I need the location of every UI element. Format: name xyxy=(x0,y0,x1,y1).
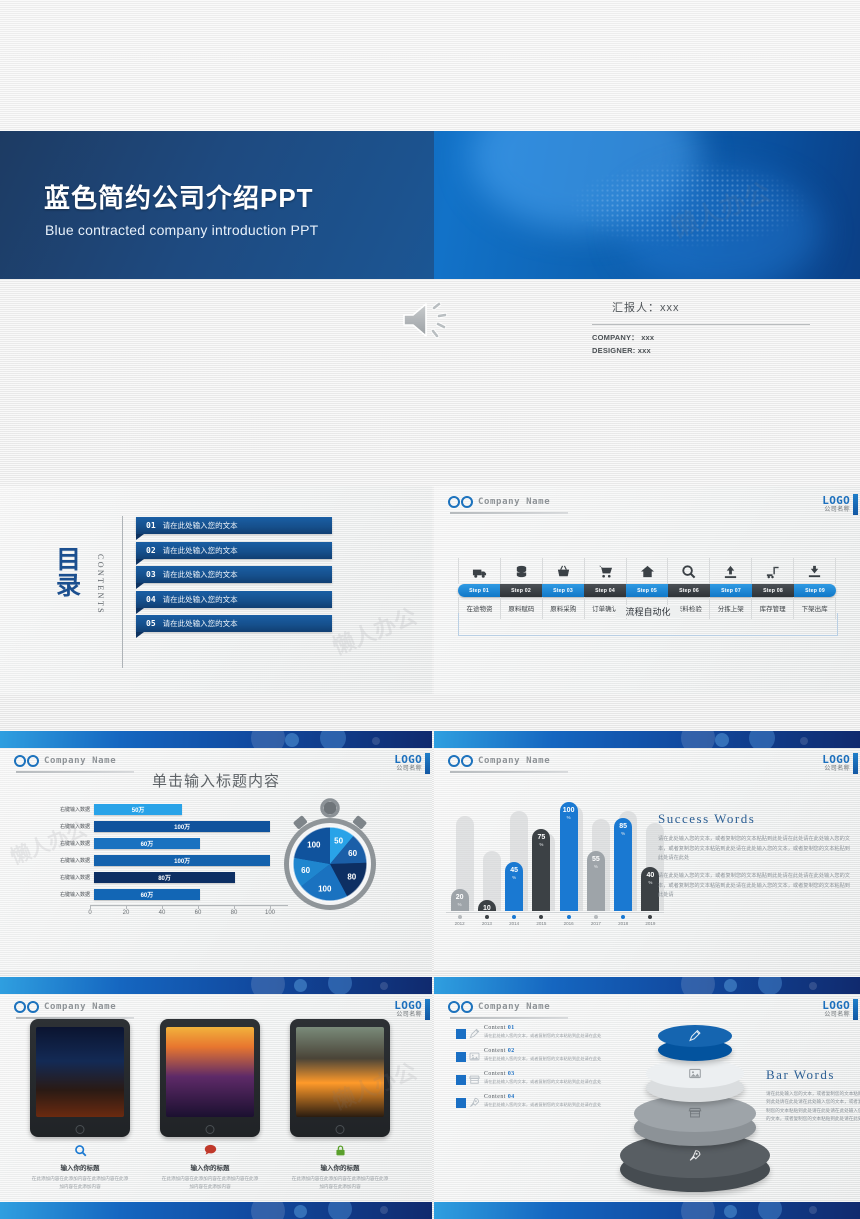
bar-words-text: 请在此处输入您的文本，或者复制您的文本粘贴到此处请在此处请在此处输入您的文本，或… xyxy=(766,1090,860,1124)
logo-badge: LOGO 公司名称 xyxy=(822,1000,850,1018)
bar-row-label: 右键输入数据 xyxy=(38,874,94,881)
bar-track: 60万 xyxy=(94,889,288,900)
toc-item-text: 请在此处输入您的文本 xyxy=(163,618,238,629)
meta-company-value: xxx xyxy=(641,333,654,342)
column-unit: % xyxy=(567,815,571,820)
slide-cover[interactable]: 蓝色简约公司介绍PPT Blue contracted company intr… xyxy=(0,0,860,355)
image-icon xyxy=(689,1067,702,1085)
truck-icon xyxy=(458,558,501,584)
toc-item-text: 请在此处输入您的文本 xyxy=(163,594,238,605)
image-icon xyxy=(466,1048,482,1062)
bar-value: 100万 xyxy=(94,855,270,866)
bar-row-label: 右键输入数据 xyxy=(38,857,94,864)
pie-slice-label: 100 xyxy=(318,885,332,894)
world-map-dots xyxy=(560,153,840,257)
bar-chart-row: 右键输入数据100万 xyxy=(38,820,288,833)
bar-words-heading: Bar Words xyxy=(766,1067,860,1083)
chart-title: 单击输入标题内容 xyxy=(0,770,432,791)
vertical-column-chart: 20%10%45%75%100%55%85%40% xyxy=(446,791,664,911)
slide-header: Company Name xyxy=(14,755,116,767)
year-tick: 2017 xyxy=(584,915,608,926)
bar-value: 50万 xyxy=(94,804,182,815)
success-paragraph-2: 请在此处输入您的文本，或者复制您的文本粘贴到此处请在此处请在此处输入您的文本，或… xyxy=(658,872,854,901)
bar-value: 60万 xyxy=(94,889,200,900)
meta-designer-label: DESIGNER: xyxy=(592,346,635,355)
logo-accent-bar xyxy=(853,494,858,515)
company-logo-icon xyxy=(14,755,39,767)
upload-icon xyxy=(710,558,752,584)
toc-item-number: 02 xyxy=(146,546,156,555)
column-bar: 10% xyxy=(478,900,496,911)
bullet-square xyxy=(456,1029,466,1039)
bar-row-label: 右键输入数据 xyxy=(38,806,94,813)
divider xyxy=(122,516,123,668)
column-value: 55 xyxy=(592,856,600,863)
divider xyxy=(450,1017,568,1019)
chart-year-labels: 20122013201420152016201720182019 xyxy=(446,915,664,931)
bar-track: 60万 xyxy=(94,838,288,849)
tablet-card-text: 在此添加内容在此添加内容在此添加内容在此添加内容在此添加内容 xyxy=(160,1175,260,1191)
year-label: 2013 xyxy=(475,921,499,926)
toc-list: 01 请在此处输入您的文本 02 请在此处输入您的文本 03 请在此处输入您的文… xyxy=(136,517,332,640)
year-label: 2019 xyxy=(638,921,662,926)
year-tick: 2016 xyxy=(557,915,581,926)
toc-item[interactable]: 01 请在此处输入您的文本 xyxy=(136,517,332,534)
decorative-band-top xyxy=(0,731,432,748)
success-heading: Success Words xyxy=(658,811,854,827)
bar-words-block: Bar Words 请在此处输入您的文本，或者复制您的文本粘贴到此处请在此处请在… xyxy=(766,1067,860,1124)
logo-subtext: 公司名称 xyxy=(822,766,850,772)
toc-item[interactable]: 03 请在此处输入您的文本 xyxy=(136,566,332,583)
toc-item-text: 请在此处输入您的文本 xyxy=(163,545,238,556)
pie-slice-label: 50 xyxy=(334,836,343,845)
process-step-chip[interactable]: Step 01 xyxy=(458,584,500,597)
column-value: 75 xyxy=(537,834,545,841)
tablet-card-text: 在此添加内容在此添加内容在此添加内容在此添加内容在此添加内容 xyxy=(290,1175,390,1191)
process-step-chip[interactable]: Step 06 xyxy=(668,584,710,597)
year-label: 2015 xyxy=(529,921,553,926)
logo-text: LOGO xyxy=(394,754,422,766)
stopwatch-pie-chart: 50608010060100 xyxy=(272,798,388,919)
column-bar: 85% xyxy=(614,818,632,911)
bar-chart-row: 右键输入数据60万 xyxy=(38,837,288,850)
store-icon xyxy=(466,1071,482,1085)
content-list-item[interactable]: Content 04请在此处输入您的文本，或者复制您的文本粘贴到此处请在此处 xyxy=(456,1094,616,1108)
decorative-band-top xyxy=(434,977,860,994)
slide-contents[interactable]: 目录 CONTENTS 01 请在此处输入您的文本 02 请在此处输入您的文本 … xyxy=(0,486,432,694)
cover-title: 蓝色简约公司介绍PPT xyxy=(44,178,314,215)
tablet-frame xyxy=(30,1019,130,1137)
logo-text: LOGO xyxy=(822,754,850,766)
decorative-band-top xyxy=(0,977,432,994)
pie-slice-label: 100 xyxy=(307,841,321,850)
process-step-chip[interactable]: Step 09 xyxy=(794,584,836,597)
column-value: 100 xyxy=(563,807,575,814)
tablet-card-text: 在此添加内容在此添加内容在此添加内容在此添加内容在此添加内容 xyxy=(30,1175,130,1191)
content-list: Content 01请在此处输入您的文本，或者复制您的文本粘贴到此处请在此处Co… xyxy=(456,1025,616,1118)
year-label: 2016 xyxy=(557,921,581,926)
toc-item-number: 05 xyxy=(146,619,156,628)
logo-badge: LOGO 公司名称 xyxy=(822,754,850,772)
pen-icon xyxy=(689,1029,702,1047)
axis-tick-label: 40 xyxy=(159,910,166,916)
content-item-text: 请在此处输入您的文本，或者复制您的文本粘贴到此处请在此处 xyxy=(484,1078,601,1085)
bar-chart-x-axis: 020406080100 xyxy=(90,905,288,922)
slide-stack[interactable]: Company Name LOGO 公司名称 Content 01请在此处输入您… xyxy=(434,977,860,1219)
company-name-label: Company Name xyxy=(478,497,550,507)
watermark: 懒人办公 xyxy=(327,599,421,662)
tablet-card-title: 输入你的标题 xyxy=(160,1162,260,1172)
toc-item-text: 请在此处输入您的文本 xyxy=(163,520,238,531)
slide-header: Company Name xyxy=(448,755,550,767)
column-bar: 55% xyxy=(587,851,605,911)
logo-badge: LOGO 公司名称 xyxy=(822,495,850,513)
divider xyxy=(450,771,568,773)
download-icon xyxy=(794,558,836,584)
tablet-card[interactable]: 输入你的标题在此添加内容在此添加内容在此添加内容在此添加内容在此添加内容 xyxy=(290,1019,390,1191)
logo-subtext: 公司名称 xyxy=(822,1012,850,1018)
column-value: 20 xyxy=(456,894,464,901)
tablet-card-title: 输入你的标题 xyxy=(30,1162,130,1172)
pie-slice-label: 60 xyxy=(348,849,357,858)
toc-title-en: CONTENTS xyxy=(96,554,105,615)
cover-subtitle: Blue contracted company introduction PPT xyxy=(45,222,318,238)
home-button-icon xyxy=(206,1125,215,1134)
axis-tick-label: 0 xyxy=(88,910,91,916)
pie-slice-label: 60 xyxy=(301,866,310,875)
slide-header: Company Name xyxy=(448,496,550,508)
content-item-text: 请在此处输入您的文本，或者复制您的文本粘贴到此处请在此处 xyxy=(484,1101,601,1108)
tablet-frame xyxy=(160,1019,260,1137)
rocket-icon xyxy=(689,1149,702,1167)
content-item-text: 请在此处输入您的文本，或者复制您的文本粘贴到此处请在此处 xyxy=(484,1055,601,1062)
divider xyxy=(450,512,568,514)
slide-tablets[interactable]: Company Name LOGO 公司名称 输入你的标题在此添加内容在此添加内… xyxy=(0,977,432,1219)
logo-accent-bar xyxy=(853,999,858,1020)
store-icon xyxy=(689,1106,702,1124)
column-unit: % xyxy=(621,831,625,836)
success-paragraph-1: 请在此处输入您的文本，或者复制您的文本粘贴到此处请在此处请在此处输入您的文本，或… xyxy=(658,835,854,864)
bar-track: 100万 xyxy=(94,821,288,832)
axis-tick-label: 80 xyxy=(231,910,238,916)
year-tick: 2013 xyxy=(475,915,499,926)
success-words-block: Success Words 请在此处输入您的文本，或者复制您的文本粘贴到此处请在… xyxy=(658,811,854,909)
toc-item-text: 请在此处输入您的文本 xyxy=(163,569,238,580)
tablet-screen-image xyxy=(166,1027,254,1117)
slide-header: Company Name xyxy=(14,1001,116,1013)
column-unit: % xyxy=(512,875,516,880)
bar-chart-row: 右键输入数据60万 xyxy=(38,888,288,901)
tablet-screen-image xyxy=(296,1027,384,1117)
process-step-chip[interactable]: Step 03 xyxy=(542,584,584,597)
column-bar: 45% xyxy=(505,862,523,911)
bar-value: 80万 xyxy=(94,872,235,883)
process-footer-bracket: 流程自动化 xyxy=(458,613,838,636)
stack-disc xyxy=(634,1095,756,1146)
pen-icon xyxy=(466,1025,482,1039)
chart-axis-line xyxy=(446,912,664,913)
content-list-item[interactable]: Content 03请在此处输入您的文本，或者复制您的文本粘贴到此处请在此处 xyxy=(456,1071,616,1085)
bullet-square xyxy=(456,1075,466,1085)
stack-disc xyxy=(658,1025,732,1061)
tablet-card-title: 输入你的标题 xyxy=(290,1162,390,1172)
company-name-label: Company Name xyxy=(44,756,116,766)
content-list-item[interactable]: Content 01请在此处输入您的文本，或者复制您的文本粘贴到此处请在此处 xyxy=(456,1025,616,1039)
database-icon xyxy=(501,558,543,584)
axis-tick-label: 20 xyxy=(123,910,130,916)
decorative-band-bottom xyxy=(434,1202,860,1219)
bar-track: 80万 xyxy=(94,872,288,883)
slide-process[interactable]: Company Name LOGO 公司名称 Step 01Step 02Ste… xyxy=(434,486,860,694)
stack-disc xyxy=(646,1059,744,1102)
bar-row-label: 右键输入数据 xyxy=(38,840,94,847)
year-tick: 2019 xyxy=(638,915,662,926)
year-tick: 2012 xyxy=(448,915,472,926)
tablet-frame xyxy=(290,1019,390,1137)
company-logo-icon xyxy=(448,1001,473,1013)
column-bar: 40% xyxy=(641,867,659,911)
forklift-icon xyxy=(752,558,794,584)
comment-icon xyxy=(160,1144,260,1160)
lock-icon xyxy=(290,1144,390,1160)
column-value: 85 xyxy=(619,823,627,830)
column-bar: 75% xyxy=(532,829,550,911)
column-bar: 20% xyxy=(451,889,469,911)
column-value: 45 xyxy=(510,867,518,874)
bar-row-label: 右键输入数据 xyxy=(38,891,94,898)
meta-designer-value: xxx xyxy=(638,346,651,355)
logo-accent-bar xyxy=(425,999,430,1020)
year-label: 2012 xyxy=(448,921,472,926)
bullet-square xyxy=(456,1098,466,1108)
bullet-square xyxy=(456,1052,466,1062)
toc-item-number: 01 xyxy=(146,521,156,530)
company-logo-icon xyxy=(14,1001,39,1013)
decorative-band-top xyxy=(434,731,860,748)
bar-track: 100万 xyxy=(94,855,288,866)
column-unit: % xyxy=(458,902,462,907)
content-item-title: Content 01 xyxy=(484,1025,601,1031)
slide-column-chart[interactable]: Company Name LOGO 公司名称 20%10%45%75%100%5… xyxy=(434,731,860,971)
process-step-chip[interactable]: Step 04 xyxy=(584,584,626,597)
logo-text: LOGO xyxy=(394,1000,422,1012)
basket-icon xyxy=(543,558,585,584)
rocket-icon xyxy=(466,1094,482,1108)
content-list-item[interactable]: Content 02请在此处输入您的文本，或者复制您的文本粘贴到此处请在此处 xyxy=(456,1048,616,1062)
home-icon xyxy=(627,558,669,584)
process-footer-label: 流程自动化 xyxy=(615,605,680,618)
year-tick: 2015 xyxy=(529,915,553,926)
company-name-label: Company Name xyxy=(478,1002,550,1012)
stacked-disc-graphic xyxy=(620,1015,770,1175)
company-logo-icon xyxy=(448,755,473,767)
logo-accent-bar xyxy=(853,753,858,774)
search-icon xyxy=(30,1144,130,1160)
toc-item[interactable]: 05 请在此处输入您的文本 xyxy=(136,615,332,632)
company-logo-icon xyxy=(448,496,473,508)
process-step-chip[interactable]: Step 08 xyxy=(752,584,794,597)
toc-title-cn: 目录 xyxy=(56,548,82,599)
search-icon xyxy=(668,558,710,584)
axis-tick-label: 60 xyxy=(195,910,202,916)
year-tick: 2018 xyxy=(611,915,635,926)
process-step-chip[interactable]: Step 07 xyxy=(710,584,752,597)
speaker-icon xyxy=(398,296,458,344)
toc-item[interactable]: 02 请在此处输入您的文本 xyxy=(136,542,332,559)
reporter-line: 汇报人：xxx xyxy=(612,299,680,315)
bar-value: 100万 xyxy=(94,821,270,832)
decorative-band-bottom xyxy=(0,1202,432,1219)
process-step-chip[interactable]: Step 02 xyxy=(500,584,542,597)
logo-text: LOGO xyxy=(822,1000,850,1012)
content-item-title: Content 04 xyxy=(484,1094,601,1100)
process-icon-row xyxy=(458,558,836,584)
tablet-card-list: 输入你的标题在此添加内容在此添加内容在此添加内容在此添加内容在此添加内容输入你的… xyxy=(30,1019,390,1191)
bar-value: 60万 xyxy=(94,838,200,849)
home-button-icon xyxy=(336,1125,345,1134)
year-label: 2014 xyxy=(502,921,526,926)
tablet-card[interactable]: 输入你的标题在此添加内容在此添加内容在此添加内容在此添加内容在此添加内容 xyxy=(160,1019,260,1191)
cover-meta: COMPANY： xxx DESIGNER: xxx DATE: 2019-8-… xyxy=(592,332,654,355)
pie-slice-label: 80 xyxy=(347,873,356,882)
toc-item-number: 03 xyxy=(146,570,156,579)
logo-subtext: 公司名称 xyxy=(822,507,850,513)
bar-row-label: 右键输入数据 xyxy=(38,823,94,830)
home-button-icon xyxy=(76,1125,85,1134)
content-item-text: 请在此处输入您的文本，或者复制您的文本粘贴到此处请在此处 xyxy=(484,1032,601,1039)
slide-header: Company Name xyxy=(448,1001,550,1013)
process-step-bar: Step 01Step 02Step 03Step 04Step 05Step … xyxy=(458,584,836,597)
column-unit: % xyxy=(594,864,598,869)
cart-icon xyxy=(585,558,627,584)
bar-chart-row: 右键输入数据50万 xyxy=(38,803,288,816)
content-item-title: Content 03 xyxy=(484,1071,601,1077)
bar-track: 50万 xyxy=(94,804,288,815)
toc-item[interactable]: 04 请在此处输入您的文本 xyxy=(136,591,332,608)
bar-chart-row: 右键输入数据100万 xyxy=(38,854,288,867)
process-step-chip[interactable]: Step 05 xyxy=(626,584,668,597)
logo-subtext: 公司名称 xyxy=(394,1012,422,1018)
year-label: 2017 xyxy=(584,921,608,926)
column-unit: % xyxy=(539,842,543,847)
meta-company-label: COMPANY： xyxy=(592,333,639,342)
column-unit: % xyxy=(648,880,652,885)
company-name-label: Company Name xyxy=(44,1002,116,1012)
year-tick: 2014 xyxy=(502,915,526,926)
tablet-card[interactable]: 输入你的标题在此添加内容在此添加内容在此添加内容在此添加内容在此添加内容 xyxy=(30,1019,130,1191)
divider xyxy=(592,324,810,325)
logo-text: LOGO xyxy=(822,495,850,507)
tablet-screen-image xyxy=(36,1027,124,1117)
bar-chart-row: 右键输入数据80万 xyxy=(38,871,288,884)
toc-item-number: 04 xyxy=(146,595,156,604)
column-value: 40 xyxy=(646,872,654,879)
ppt-preview-page: 蓝色简约公司介绍PPT Blue contracted company intr… xyxy=(0,0,860,1219)
content-item-title: Content 02 xyxy=(484,1048,601,1054)
logo-badge: LOGO 公司名称 xyxy=(394,1000,422,1018)
column-bar: 100% xyxy=(560,802,578,911)
year-label: 2018 xyxy=(611,921,635,926)
company-name-label: Company Name xyxy=(478,756,550,766)
horizontal-bar-chart: 右键输入数据50万右键输入数据100万右键输入数据60万右键输入数据100万右键… xyxy=(38,803,288,922)
